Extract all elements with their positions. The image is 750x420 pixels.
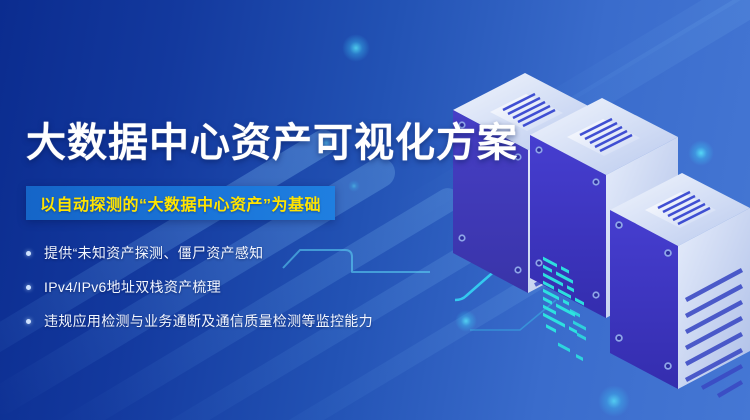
text-column: 大数据中心资产可视化方案 以自动探测的“大数据中心资产”为基础 提供“未知资产探… xyxy=(0,0,470,420)
list-item-label: 提供“未知资产探测、僵尸资产感知 xyxy=(44,243,263,263)
feature-bullet-list: 提供“未知资产探测、僵尸资产感知 IPv4/IPv6地址双栈资产梳理 违规应用检… xyxy=(26,238,373,340)
subtitle-bar-label: 以自动探测的“大数据中心资产”为基础 xyxy=(40,191,321,215)
list-item: 违规应用检测与业务通断及通信质量检测等监控能力 xyxy=(26,306,373,336)
server-front-right xyxy=(610,173,750,396)
subtitle-bar: 以自动探测的“大数据中心资产”为基础 xyxy=(26,186,335,220)
bullet-dot-icon xyxy=(26,285,31,290)
bullet-dot-icon xyxy=(26,319,31,324)
banner-root: 大数据中心资产可视化方案 以自动探测的“大数据中心资产”为基础 提供“未知资产探… xyxy=(0,0,750,420)
page-title: 大数据中心资产可视化方案 xyxy=(26,123,518,163)
server-illustration xyxy=(430,55,750,420)
list-item: 提供“未知资产探测、僵尸资产感知 xyxy=(26,238,373,268)
list-item-label: 违规应用检测与业务通断及通信质量检测等监控能力 xyxy=(44,311,373,331)
list-item: IPv4/IPv6地址双栈资产梳理 xyxy=(26,272,373,302)
bullet-dot-icon xyxy=(26,251,31,256)
list-item-label: IPv4/IPv6地址双栈资产梳理 xyxy=(44,277,221,297)
